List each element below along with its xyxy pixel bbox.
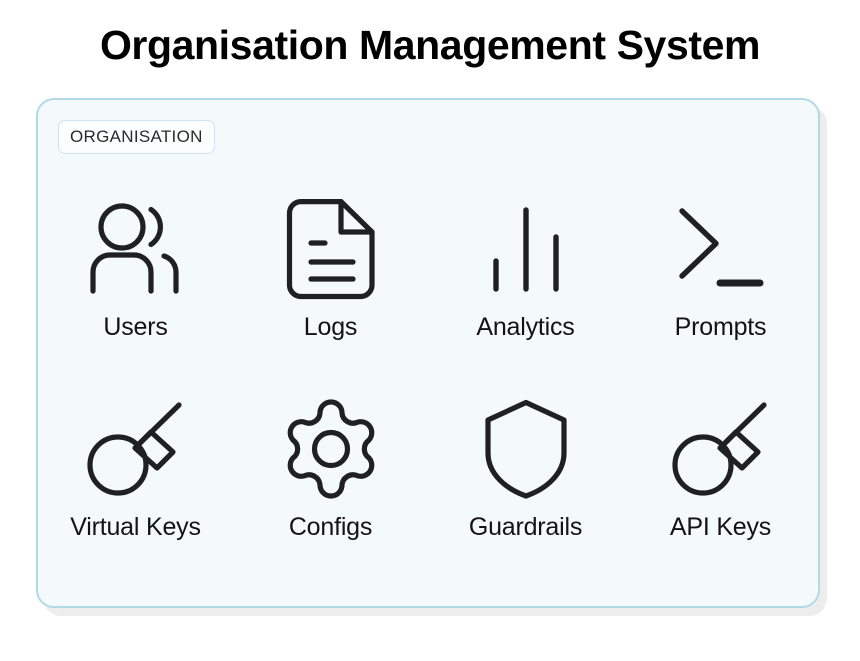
tile-label: Prompts (675, 312, 767, 342)
tile-label: Virtual Keys (70, 512, 201, 542)
app-page: Organisation Management System ORGANISAT… (0, 0, 860, 661)
page-title: Organisation Management System (0, 20, 860, 70)
bar-chart-icon (471, 194, 581, 304)
tile-label: Configs (289, 512, 372, 542)
tile-label: Logs (304, 312, 357, 342)
tile-label: Analytics (476, 312, 574, 342)
key-icon (81, 394, 191, 504)
document-lines-icon (276, 194, 386, 304)
module-grid: Users Logs (38, 186, 818, 586)
tile-guardrails[interactable]: Guardrails (428, 386, 623, 586)
key-icon (666, 394, 776, 504)
tile-analytics[interactable]: Analytics (428, 186, 623, 386)
users-icon (81, 194, 191, 304)
tile-label: API Keys (670, 512, 771, 542)
tile-api-keys[interactable]: API Keys (623, 386, 818, 586)
tile-label: Guardrails (469, 512, 582, 542)
organisation-badge: ORGANISATION (58, 120, 215, 154)
shield-icon (471, 394, 581, 504)
tile-logs[interactable]: Logs (233, 186, 428, 386)
tile-configs[interactable]: Configs (233, 386, 428, 586)
organisation-card: ORGANISATION Users (36, 98, 820, 608)
tile-users[interactable]: Users (38, 186, 233, 386)
gear-icon (276, 394, 386, 504)
tile-prompts[interactable]: Prompts (623, 186, 818, 386)
tile-label: Users (103, 312, 167, 342)
tile-virtual-keys[interactable]: Virtual Keys (38, 386, 233, 586)
terminal-prompt-icon (666, 194, 776, 304)
